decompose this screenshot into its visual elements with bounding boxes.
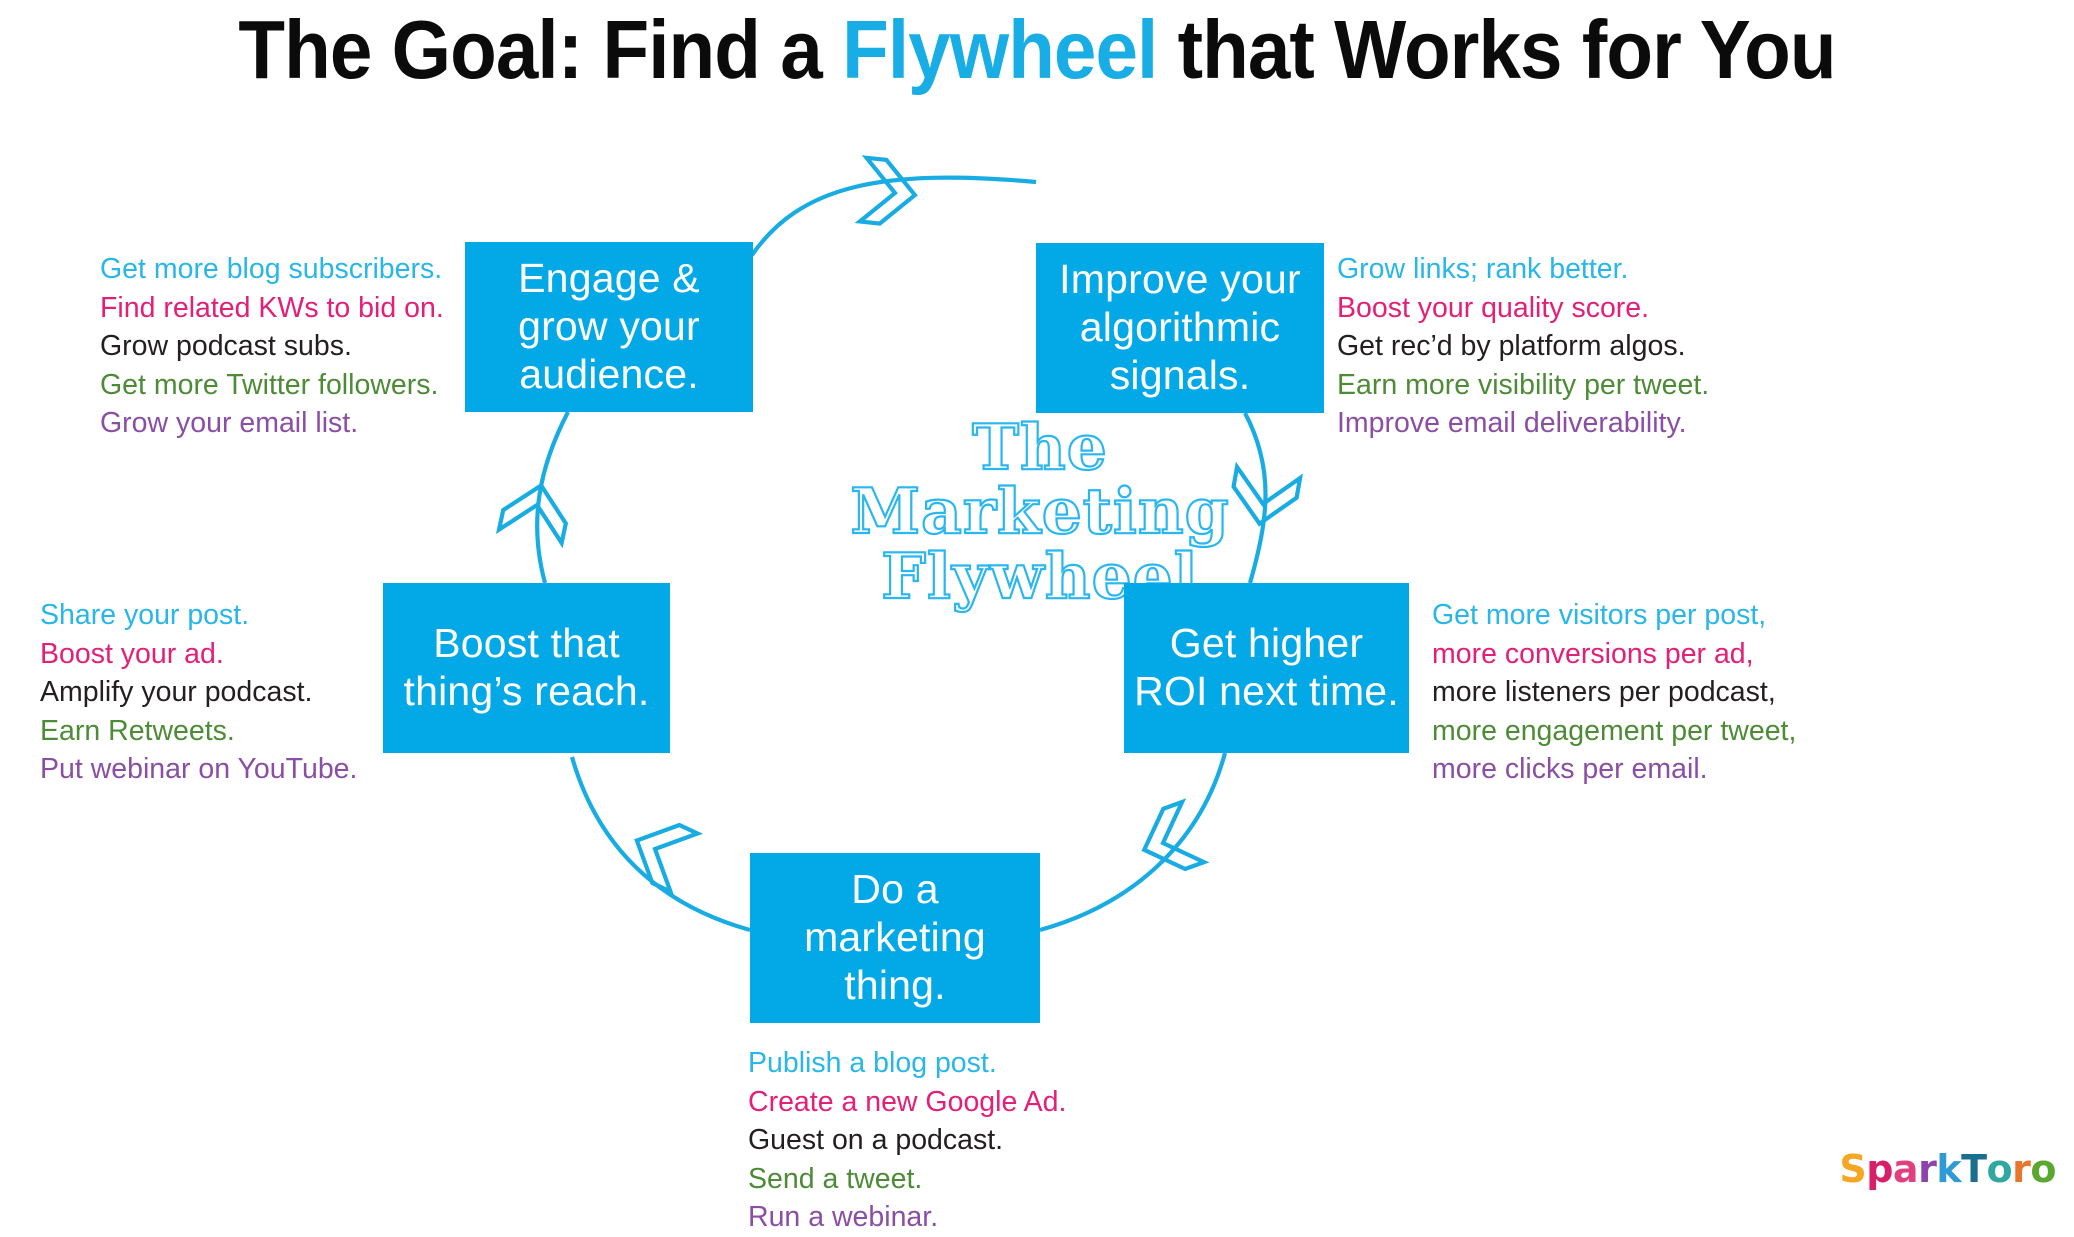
wordmark-line-2: Marketing — [660, 479, 1420, 543]
annotation-line-podcast: Grow podcast subs. — [100, 327, 444, 366]
logo-letter-o: o — [1987, 1147, 2013, 1191]
annotation-line-email: Run a webinar. — [748, 1198, 1066, 1237]
arrowhead-bottom-right — [1133, 802, 1204, 880]
annotation-line-blog: Get more visitors per post, — [1432, 596, 1796, 635]
annotation-line-podcast: Amplify your podcast. — [40, 673, 357, 712]
annotation-line-email: Put webinar on YouTube. — [40, 750, 357, 789]
annotation-line-email: more clicks per email. — [1432, 750, 1796, 789]
logo-letter-o: o — [2030, 1147, 2056, 1191]
annotations-roi: Get more visitors per post,more conversi… — [1432, 596, 1796, 789]
annotation-line-twitter: Earn more visibility per tweet. — [1337, 366, 1709, 405]
arrowhead-top — [860, 158, 918, 227]
node-engage-grow-audience[interactable]: Engage & grow your audience. — [465, 242, 753, 412]
node-improve-algo-signals[interactable]: Improve your algorithmic signals. — [1036, 243, 1324, 413]
annotation-line-blog: Share your post. — [40, 596, 357, 635]
arc-roi-to-do — [1040, 753, 1225, 930]
logo-letter-r: r — [2012, 1147, 2030, 1191]
annotation-line-ads: Create a new Google Ad. — [748, 1083, 1066, 1122]
arrowhead-bottom-left — [623, 812, 697, 892]
center-wordmark: The Marketing Flywheel — [660, 415, 1420, 608]
annotations-boost: Share your post.Boost your ad.Amplify yo… — [40, 596, 357, 789]
sparktoro-logo[interactable]: SparkToro — [1839, 1147, 2056, 1191]
annotation-line-ads: more conversions per ad, — [1432, 635, 1796, 674]
arc-boost-to-engage — [537, 412, 568, 583]
annotation-line-blog: Get more blog subscribers. — [100, 250, 444, 289]
logo-letter-p: p — [1866, 1147, 1893, 1191]
arc-do-to-boost — [572, 757, 750, 930]
annotation-line-twitter: more engagement per tweet, — [1432, 712, 1796, 751]
annotation-line-ads: Find related KWs to bid on. — [100, 289, 444, 328]
annotation-line-twitter: Get more Twitter followers. — [100, 366, 444, 405]
logo-letter-T: T — [1961, 1147, 1986, 1191]
node-get-higher-roi[interactable]: Get higher ROI next time. — [1124, 583, 1409, 753]
logo-letter-a: a — [1893, 1147, 1918, 1191]
annotation-line-podcast: more listeners per podcast, — [1432, 673, 1796, 712]
logo-letter-S: S — [1839, 1147, 1866, 1191]
wordmark-line-1: The — [660, 415, 1420, 479]
annotation-line-blog: Publish a blog post. — [748, 1044, 1066, 1083]
slide-canvas: The Goal: Find a Flywheel that Works for… — [0, 0, 2074, 1203]
annotation-line-podcast: Get rec’d by platform algos. — [1337, 327, 1709, 366]
logo-letter-k: k — [1936, 1147, 1961, 1191]
annotation-line-blog: Grow links; rank better. — [1337, 250, 1709, 289]
annotation-line-ads: Boost your quality score. — [1337, 289, 1709, 328]
annotation-line-email: Grow your email list. — [100, 404, 444, 443]
annotation-line-twitter: Send a tweet. — [748, 1160, 1066, 1199]
annotation-line-podcast: Guest on a podcast. — [748, 1121, 1066, 1160]
annotations-improve: Grow links; rank better.Boost your quali… — [1337, 250, 1709, 443]
logo-letter-r: r — [1918, 1147, 1936, 1191]
annotations-do: Publish a blog post.Create a new Google … — [748, 1044, 1066, 1237]
annotation-line-twitter: Earn Retweets. — [40, 712, 357, 751]
annotations-engage: Get more blog subscribers.Find related K… — [100, 250, 444, 443]
node-boost-reach[interactable]: Boost that thing’s reach. — [383, 583, 670, 753]
node-do-marketing-thing[interactable]: Do a marketing thing. — [750, 853, 1040, 1023]
annotation-line-ads: Boost your ad. — [40, 635, 357, 674]
annotation-line-email: Improve email deliverability. — [1337, 404, 1709, 443]
